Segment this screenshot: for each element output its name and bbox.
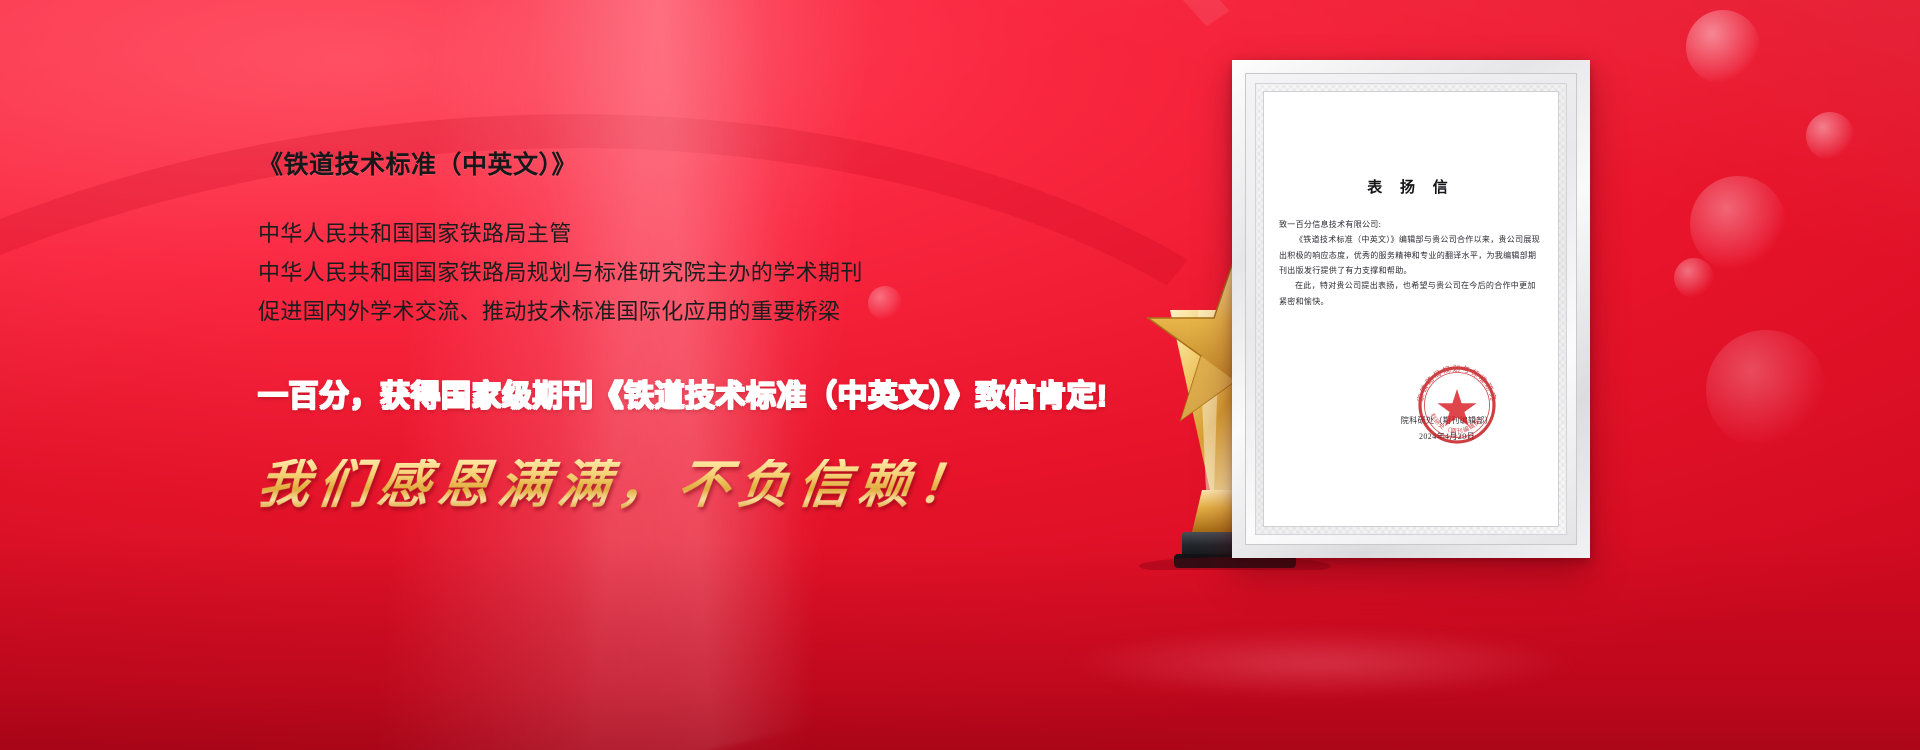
certificate-salutation: 致一百分信息技术有限公司: bbox=[1279, 217, 1543, 232]
subline-3: 促进国内外学术交流、推动技术标准国际化应用的重要桥梁 bbox=[258, 292, 1208, 331]
banner-stage: 《铁道技术标准（中英文）》 中华人民共和国国家铁路局主管 中华人民共和国国家铁路… bbox=[0, 0, 1920, 750]
subline-1: 中华人民共和国国家铁路局主管 bbox=[258, 214, 1208, 253]
banner-copy: 《铁道技术标准（中英文）》 中华人民共和国国家铁路局主管 中华人民共和国国家铁路… bbox=[258, 150, 1208, 511]
certificate-signature-org: 院科研处（期刊编辑部） bbox=[1352, 415, 1542, 426]
certificate-frame: 表 扬 信 致一百分信息技术有限公司: 《铁道技术标准（中英文）》编辑部与贵公司… bbox=[1232, 60, 1590, 558]
bokeh-circle-icon bbox=[1806, 112, 1854, 160]
certificate-paragraph-1: 《铁道技术标准（中英文）》编辑部与贵公司合作以来，贵公司展现出积极的响应态度，优… bbox=[1279, 232, 1543, 278]
background-bottom-shade bbox=[0, 540, 1920, 750]
journal-title: 《铁道技术标准（中英文）》 bbox=[258, 150, 1208, 180]
bokeh-circle-icon bbox=[1706, 330, 1826, 450]
floor-glow bbox=[1060, 628, 1580, 698]
subline-2: 中华人民共和国国家铁路局规划与标准研究院主办的学术期刊 bbox=[258, 253, 1208, 292]
bokeh-circle-icon bbox=[1674, 258, 1714, 298]
certificate-paragraph-2: 在此，特对贵公司提出表扬，也希望与贵公司在今后的合作中更加紧密和愉快。 bbox=[1279, 278, 1543, 309]
certificate-frame-inner: 表 扬 信 致一百分信息技术有限公司: 《铁道技术标准（中英文）》编辑部与贵公司… bbox=[1245, 73, 1577, 545]
headline: 一百分，获得国家级期刊《铁道技术标准（中英文）》致信肯定! bbox=[258, 371, 1208, 415]
bokeh-circle-icon bbox=[1690, 176, 1786, 272]
svg-text:国家铁路局规划与标准研究院: 国家铁路局规划与标准研究院 bbox=[1414, 362, 1499, 403]
certificate-mat: 表 扬 信 致一百分信息技术有限公司: 《铁道技术标准（中英文）》编辑部与贵公司… bbox=[1255, 83, 1567, 535]
certificate-paper: 表 扬 信 致一百分信息技术有限公司: 《铁道技术标准（中英文）》编辑部与贵公司… bbox=[1263, 91, 1559, 527]
gold-slogan: 我们感恩满满，不负信赖！ bbox=[255, 459, 1211, 511]
bokeh-circle-icon bbox=[1686, 10, 1760, 84]
certificate-signature-date: 2024年4月29日 bbox=[1352, 431, 1542, 442]
certificate-title: 表 扬 信 bbox=[1279, 176, 1543, 197]
certificate-signature: 院科研处（期刊编辑部） 2024年4月29日 bbox=[1352, 415, 1542, 442]
